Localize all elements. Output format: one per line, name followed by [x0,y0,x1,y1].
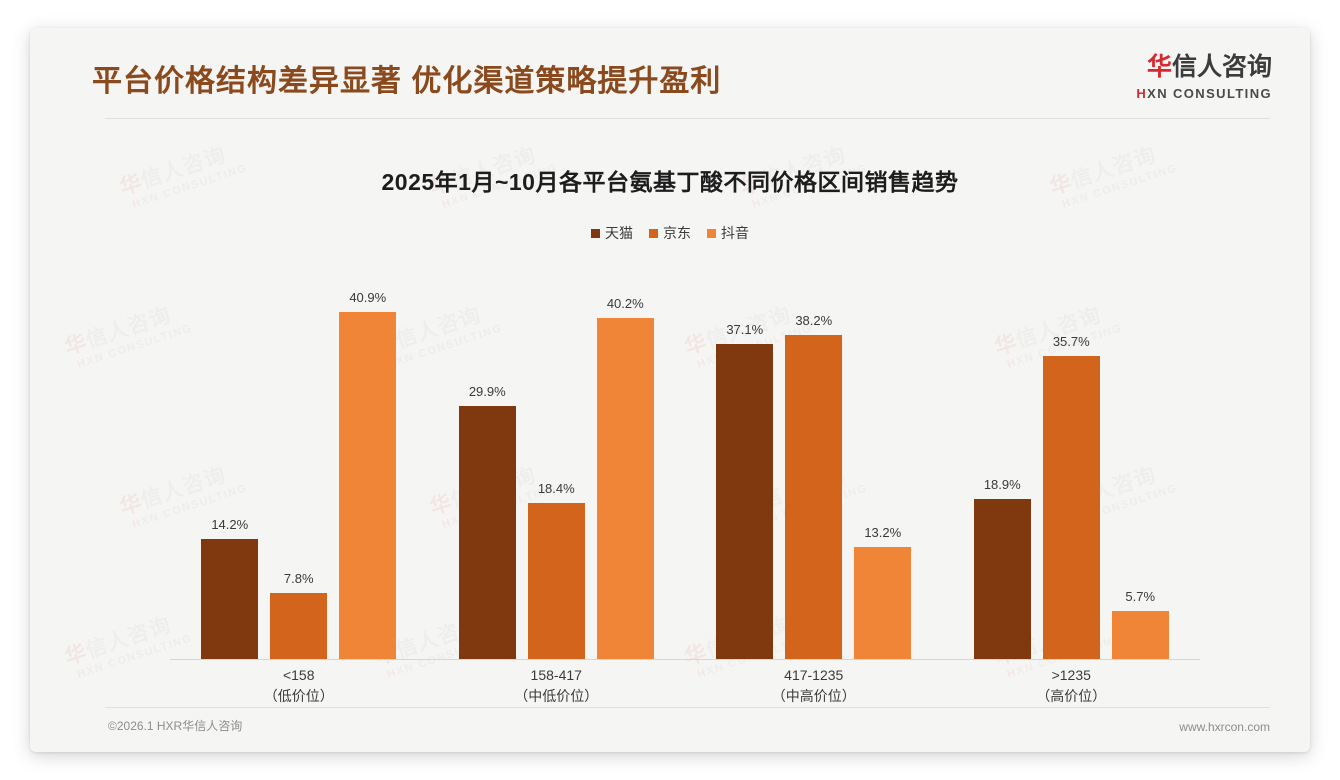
chart-legend: 天猫京东抖音 [30,223,1310,243]
x-tick-line1: <158 [283,667,315,683]
bar-group: 14.2%7.8%40.9% [170,270,428,659]
brand-logo-cn-dark: 信人咨询 [1172,53,1272,81]
bar-column: 18.9% [974,270,1031,659]
bar-value-label: 38.2% [795,313,832,328]
x-tick-line1: 158-417 [531,667,582,683]
bar-column: 14.2% [201,270,258,659]
bar-京东[interactable] [785,335,842,659]
bar-天猫[interactable] [201,539,258,659]
bar-group: 37.1%38.2%13.2% [685,270,943,659]
legend-item-天猫[interactable]: 天猫 [591,223,633,243]
brand-logo-cn-red: 华 [1147,53,1172,81]
brand-logo-en: HXN CONSULTING [1136,87,1272,100]
legend-label: 京东 [663,223,691,243]
bar-抖音[interactable] [1112,611,1169,659]
bar-value-label: 29.9% [469,384,506,399]
legend-swatch-icon [649,229,658,238]
legend-swatch-icon [591,229,600,238]
bar-column: 29.9% [459,270,516,659]
bar-京东[interactable] [528,503,585,659]
x-axis-line [170,659,1200,660]
bar-group: 29.9%18.4%40.2% [428,270,686,659]
legend-item-抖音[interactable]: 抖音 [707,223,749,243]
footer-copyright: ©2026.1 HXR华信人咨询 [108,717,242,734]
brand-logo: 华信人咨询 HXN CONSULTING [1136,55,1272,100]
bar-京东[interactable] [1043,356,1100,659]
x-axis-tick-label: 158-417（中低价位） [428,665,686,707]
x-tick-line1: 417-1235 [784,667,843,683]
bar-column: 37.1% [716,270,773,659]
x-tick-line2: （低价位） [170,686,428,707]
bar-天猫[interactable] [459,406,516,660]
bar-value-label: 14.2% [211,517,248,532]
bar-column: 40.2% [597,270,654,659]
footer-website: www.hxrcon.com [1179,720,1270,734]
bar-column: 13.2% [854,270,911,659]
legend-label: 天猫 [605,223,633,243]
bar-京东[interactable] [270,593,327,659]
bar-天猫[interactable] [716,344,773,659]
bar-抖音[interactable] [854,547,911,659]
bar-天猫[interactable] [974,499,1031,659]
x-tick-line2: （中高价位） [685,686,943,707]
bar-抖音[interactable] [597,318,654,659]
header-divider [105,118,1270,119]
bar-groups: 14.2%7.8%40.9%29.9%18.4%40.2%37.1%38.2%1… [170,270,1200,659]
bar-value-label: 40.2% [607,296,644,311]
x-axis-tick-labels: <158（低价位）158-417（中低价位）417-1235（中高价位）>123… [170,665,1200,707]
legend-item-京东[interactable]: 京东 [649,223,691,243]
bar-value-label: 37.1% [726,322,763,337]
bar-value-label: 18.9% [984,477,1021,492]
x-tick-line2: （高价位） [943,686,1201,707]
brand-logo-en-red: H [1136,86,1147,101]
slide-header: 平台价格结构差异显著 优化渠道策略提升盈利 华信人咨询 HXN CONSULTI… [30,28,1310,118]
bar-value-label: 7.8% [284,571,314,586]
bar-抖音[interactable] [339,312,396,659]
x-axis-tick-label: <158（低价位） [170,665,428,707]
chart-title: 2025年1月~10月各平台氨基丁酸不同价格区间销售趋势 [30,163,1310,197]
bar-column: 35.7% [1043,270,1100,659]
bar-column: 40.9% [339,270,396,659]
bar-value-label: 5.7% [1125,589,1155,604]
bar-value-label: 35.7% [1053,334,1090,349]
x-axis-tick-label: 417-1235（中高价位） [685,665,943,707]
footer-divider [105,707,1270,708]
x-axis-tick-label: >1235（高价位） [943,665,1201,707]
bar-group: 18.9%35.7%5.7% [943,270,1201,659]
bar-column: 18.4% [528,270,585,659]
bar-column: 5.7% [1112,270,1169,659]
legend-swatch-icon [707,229,716,238]
x-tick-line2: （中低价位） [428,686,686,707]
bar-value-label: 18.4% [538,481,575,496]
page-title: 平台价格结构差异显著 优化渠道策略提升盈利 [92,56,721,100]
bar-value-label: 40.9% [349,290,386,305]
slide-card: 华信人咨询HXN CONSULTING华信人咨询HXN CONSULTING华信… [30,28,1310,752]
brand-logo-en-dark: XN CONSULTING [1147,86,1272,101]
bar-column: 38.2% [785,270,842,659]
bar-column: 7.8% [270,270,327,659]
bar-value-label: 13.2% [864,525,901,540]
brand-logo-cn: 华信人咨询 [1136,55,1272,80]
chart-plot-area: 14.2%7.8%40.9%29.9%18.4%40.2%37.1%38.2%1… [170,270,1200,660]
legend-label: 抖音 [721,223,749,243]
chart-container: 2025年1月~10月各平台氨基丁酸不同价格区间销售趋势 天猫京东抖音 14.2… [30,120,1310,700]
x-tick-line1: >1235 [1052,667,1091,683]
